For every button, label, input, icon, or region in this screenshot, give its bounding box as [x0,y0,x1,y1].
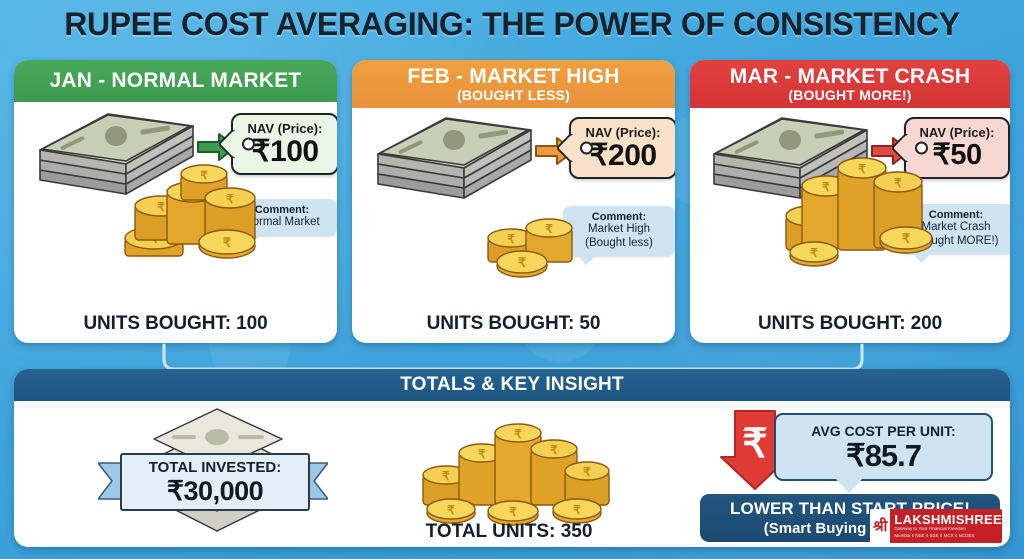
card-body-jan: NAV (Price): ₹100 Comment: Normal Market… [14,102,337,343]
svg-text:₹: ₹ [447,503,455,517]
comment-text-feb-line1: Market High [571,223,667,237]
avg-cost-value: ₹85.7 [846,440,921,471]
units-bought-mar: UNITS BOUGHT: 200 [690,313,1010,335]
svg-text:₹: ₹ [223,235,232,250]
avg-cost-label: AVG COST PER UNIT: [811,424,955,438]
svg-text:₹: ₹ [478,447,486,461]
svg-text:₹: ₹ [810,246,818,260]
tag-hole [580,142,593,155]
logo-mark: श्री [870,509,890,543]
svg-text:₹: ₹ [157,200,165,214]
nav-value-jan: ₹100 [251,137,318,167]
svg-text:₹: ₹ [201,170,208,182]
totals-panel-body: TOTAL INVESTED: ₹30,000 ₹ ₹ [14,401,1010,547]
card-header-feb-subtitle: (BOUGHT LESS) [457,88,570,102]
coin-pile-icon-mar: ₹ ₹ ₹ ₹ [776,150,941,280]
page-title: RUPEE COST AVERAGING: THE POWER OF CONSI… [0,6,1024,43]
nav-label-feb: NAV (Price): [586,126,661,139]
svg-text:₹: ₹ [894,176,902,190]
svg-text:₹: ₹ [226,192,234,206]
svg-text:₹: ₹ [507,232,515,246]
svg-text:₹: ₹ [583,465,591,479]
card-header-jan-title: JAN - NORMAL MARKET [50,70,302,91]
comment-label-feb: Comment: [571,211,667,223]
coin-pile-icon-feb: ₹ ₹ ₹ [478,208,583,280]
units-bought-feb: UNITS BOUGHT: 50 [352,313,675,335]
card-header-jan: JAN - NORMAL MARKET [14,60,337,102]
svg-text:₹: ₹ [573,503,581,517]
lakshmishree-logo: श्री LAKSHMISHREE Gateway to Your Financ… [870,509,1002,543]
svg-text:₹: ₹ [442,469,450,483]
card-header-mar-subtitle: (BOUGHT MORE!) [788,88,911,102]
units-bought-jan: UNITS BOUGHT: 100 [14,313,337,335]
card-body-feb: NAV (Price): ₹200 Comment: Market High (… [352,108,675,343]
card-header-mar-title: MAR - MARKET CRASH [730,66,970,87]
svg-text:₹: ₹ [509,505,517,519]
svg-text:₹: ₹ [902,231,911,246]
logo-tagline: Gateway to Your Financial Freedom [894,526,1002,533]
month-card-jan: JAN - NORMAL MARKET [14,60,337,343]
card-header-feb-title: FEB - MARKET HIGH [407,66,619,87]
avg-cost-callout: AVG COST PER UNIT: ₹85.7 [774,413,993,481]
svg-text:₹: ₹ [518,255,527,270]
total-invested-label: TOTAL INVESTED: [149,460,282,475]
infographic-canvas: RUPEE COST AVERAGING: THE POWER OF CONSI… [0,0,1024,559]
total-units-label: TOTAL UNITS: 350 [344,521,674,543]
svg-text:₹: ₹ [742,422,767,466]
price-tag-feb: NAV (Price): ₹200 [569,117,675,179]
svg-text:₹: ₹ [822,180,830,194]
month-card-mar: MAR - MARKET CRASH (BOUGHT MORE!) [690,60,1010,343]
svg-text:₹: ₹ [545,222,553,236]
card-body-mar: NAV (Price): ₹50 Comment: Market Crash (… [690,108,1010,343]
coin-pile-icon-total: ₹ ₹ ₹ ₹ [409,409,624,527]
tag-hole [242,138,255,151]
coin-pile-icon-jan: ₹ ₹ ₹ ₹ [109,162,259,272]
total-invested-ribbon: TOTAL INVESTED: ₹30,000 [98,453,328,509]
card-header-feb: FEB - MARKET HIGH (BOUGHT LESS) [352,60,675,108]
logo-text: LAKSHMISHREE Gateway to Your Financial F… [890,513,1002,540]
svg-text:₹: ₹ [858,162,866,176]
nav-value-feb: ₹200 [589,141,656,171]
card-header-mar: MAR - MARKET CRASH (BOUGHT MORE!) [690,60,1010,108]
svg-text:₹: ₹ [514,427,522,441]
nav-label-jan: NAV (Price): [248,122,323,135]
cash-bundle-icon [368,110,543,205]
totals-panel: TOTALS & KEY INSIGHT [14,369,1010,547]
svg-text:₹: ₹ [550,443,558,457]
month-card-feb: FEB - MARKET HIGH (BOUGHT LESS) [352,60,675,343]
total-invested-box: TOTAL INVESTED: ₹30,000 [120,453,310,511]
logo-name: LAKSHMISHREE [894,513,1002,526]
total-invested-value: ₹30,000 [167,478,263,505]
nav-label-mar: NAV (Price): [920,126,995,139]
comment-text-feb-line2: (Bought less) [571,237,667,251]
logo-offices: Mumbai ¢ NSE ¢ BSE ¢ MCX ¢ NCDEX [894,533,1002,540]
totals-panel-header: TOTALS & KEY INSIGHT [14,369,1010,401]
